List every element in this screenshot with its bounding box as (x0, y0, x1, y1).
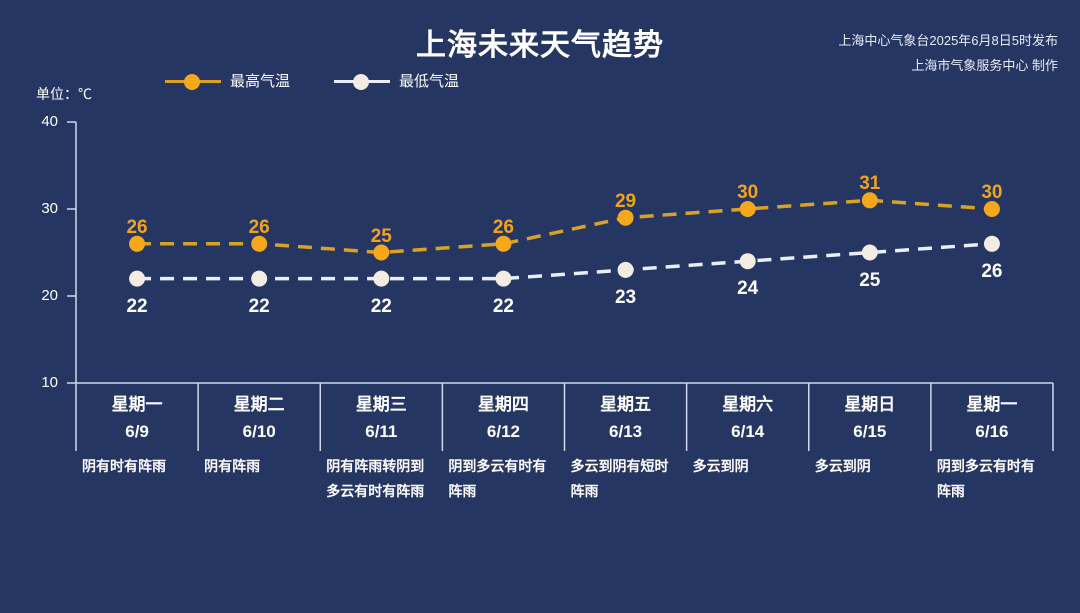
data-point-label: 30 (737, 182, 758, 204)
day-column: 星期五6/13多云到阴有短时阵雨 (565, 392, 687, 504)
day-weekday-label: 星期六 (687, 392, 809, 418)
legend-marker-low-icon (334, 72, 390, 90)
data-point-label: 25 (371, 226, 392, 248)
day-column: 星期三6/11阴有阵雨转阴到多云有时有阵雨 (320, 392, 442, 504)
credit-issuer: 上海中心气象台2025年6月8日5时发布 (838, 28, 1058, 53)
unit-label: 单位：℃ (36, 84, 92, 104)
data-point-label: 26 (493, 217, 514, 239)
y-axis-tick-label: 20 (18, 287, 58, 304)
data-point-label: 25 (859, 270, 880, 292)
legend-label-low: 最低气温 (399, 70, 459, 91)
data-point-label: 31 (859, 173, 880, 195)
day-forecast-description: 多云到阴有短时阵雨 (565, 454, 687, 504)
data-point-label: 26 (126, 217, 147, 239)
credits: 上海中心气象台2025年6月8日5时发布 上海市气象服务中心 制作 (838, 28, 1058, 78)
day-weekday-label: 星期一 (76, 392, 198, 418)
day-forecast-description: 阴到多云有时有阵雨 (442, 454, 564, 504)
day-forecast-description: 多云到阴 (809, 454, 931, 479)
data-point-label: 22 (371, 296, 392, 318)
legend-label-high: 最高气温 (230, 70, 290, 91)
day-weekday-label: 星期一 (931, 392, 1053, 418)
data-point-label: 22 (249, 296, 270, 318)
day-weekday-label: 星期三 (320, 392, 442, 418)
y-axis-tick-label: 10 (18, 374, 58, 391)
day-forecast-description: 阴到多云有时有阵雨 (931, 454, 1053, 504)
weather-trend-chart: 上海未来天气趋势 上海中心气象台2025年6月8日5时发布 上海市气象服务中心 … (0, 0, 1080, 613)
day-column: 星期一6/16阴到多云有时有阵雨 (931, 392, 1053, 504)
credit-producer: 上海市气象服务中心 制作 (838, 53, 1058, 78)
day-date-label: 6/12 (442, 418, 564, 446)
legend-item-low: 最低气温 (334, 70, 459, 91)
y-axis-tick-label: 30 (18, 200, 58, 217)
day-forecast-description: 多云到阴 (687, 454, 809, 479)
data-point-label: 24 (737, 278, 758, 300)
day-column: 星期一6/9阴有时有阵雨 (76, 392, 198, 479)
data-point-label: 22 (126, 296, 147, 318)
legend: 最高气温 最低气温 (165, 70, 459, 91)
legend-marker-high-icon (165, 72, 221, 90)
day-weekday-label: 星期二 (198, 392, 320, 418)
day-column: 星期二6/10阴有阵雨 (198, 392, 320, 479)
data-point-label: 30 (981, 182, 1002, 204)
day-date-label: 6/10 (198, 418, 320, 446)
day-date-label: 6/15 (809, 418, 931, 446)
plot-area (0, 0, 1080, 613)
day-weekday-label: 星期四 (442, 392, 564, 418)
day-date-label: 6/11 (320, 418, 442, 446)
day-forecast-description: 阴有时有阵雨 (76, 454, 198, 479)
day-column: 星期四6/12阴到多云有时有阵雨 (442, 392, 564, 504)
day-weekday-label: 星期日 (809, 392, 931, 418)
legend-item-high: 最高气温 (165, 70, 290, 91)
day-date-label: 6/9 (76, 418, 198, 446)
data-point-label: 22 (493, 296, 514, 318)
day-weekday-label: 星期五 (565, 392, 687, 418)
day-date-label: 6/13 (565, 418, 687, 446)
data-point-label: 26 (981, 261, 1002, 283)
data-point-label: 23 (615, 287, 636, 309)
day-column: 星期六6/14多云到阴 (687, 392, 809, 479)
data-point-label: 26 (249, 217, 270, 239)
data-point-label: 29 (615, 191, 636, 213)
day-date-label: 6/14 (687, 418, 809, 446)
y-axis-tick-label: 40 (18, 113, 58, 130)
day-forecast-description: 阴有阵雨 (198, 454, 320, 479)
day-column: 星期日6/15多云到阴 (809, 392, 931, 479)
day-date-label: 6/16 (931, 418, 1053, 446)
day-forecast-description: 阴有阵雨转阴到多云有时有阵雨 (320, 454, 442, 504)
